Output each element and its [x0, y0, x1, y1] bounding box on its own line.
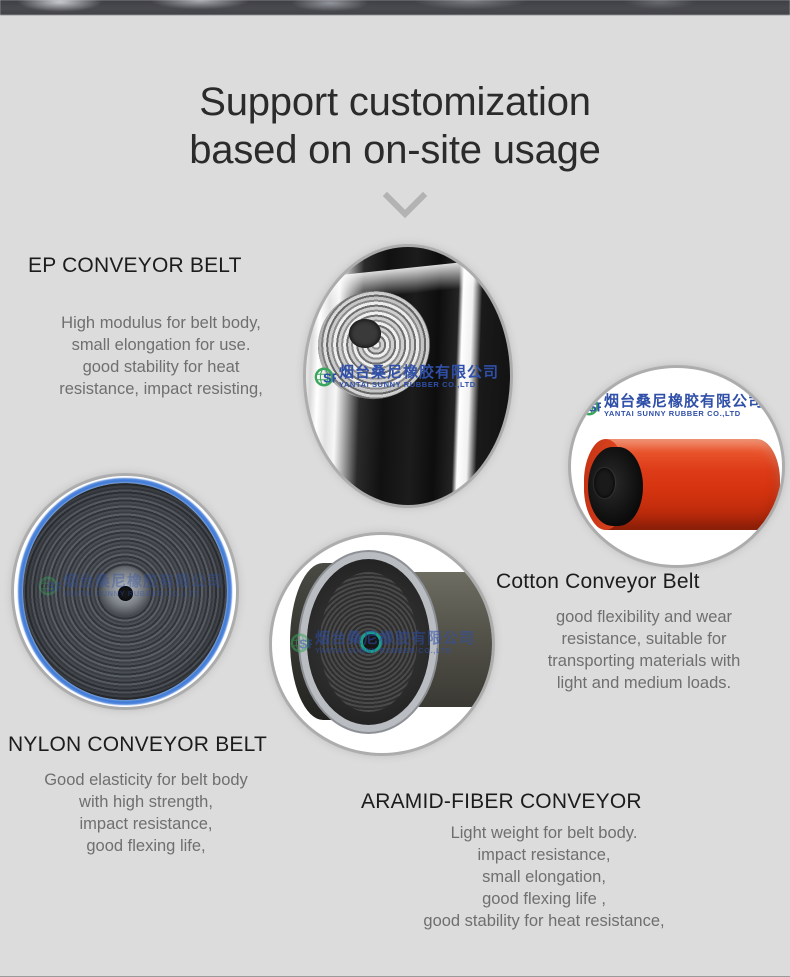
section-body-nylon: Good elasticity for belt body with high …: [4, 769, 288, 857]
section-title-aramid: ARAMID-FIBER CONVEYOR: [361, 790, 642, 814]
section-body-aramid: Light weight for belt body. impact resis…: [334, 822, 754, 932]
section-body-line: good stability for heat resistance,: [334, 910, 754, 932]
ep-conveyor-belt-photo: SR 烟台桑尼橡胶有限公司 YANTAI SUNNY RUBBER CO.,LT…: [306, 247, 510, 505]
chevron-down-icon: [383, 190, 427, 220]
headline-line-2: based on on-site usage: [0, 126, 790, 174]
aramid-fiber-conveyor-photo: SR 烟台桑尼橡胶有限公司 YANTAI SUNNY RUBBER CO.,LT…: [272, 535, 492, 753]
section-title-ep: EP CONVEYOR BELT: [28, 254, 242, 278]
nylon-conveyor-belt-photo: SR 烟台桑尼橡胶有限公司 YANTAI SUNNY RUBBER CO.,LT…: [14, 476, 236, 707]
page-title: Support customization based on on-site u…: [0, 78, 790, 174]
section-body-line: small elongation for use.: [8, 334, 314, 356]
section-body-line: Light weight for belt body.: [334, 822, 754, 844]
section-body-ep: High modulus for belt body, small elonga…: [8, 312, 314, 400]
section-body-line: good flexibility and wear: [500, 606, 788, 628]
section-body-line: good flexing life ,: [334, 888, 754, 910]
aramid-roll-center-ring: [360, 631, 382, 653]
section-body-line: High modulus for belt body,: [8, 312, 314, 334]
section-body-line: light and medium loads.: [500, 672, 788, 694]
section-body-line: impact resistance,: [334, 844, 754, 866]
headline-line-1: Support customization: [199, 80, 591, 124]
nylon-coil-core-hole: [118, 586, 132, 601]
cotton-conveyor-belt-photo: SR 烟台桑尼橡胶有限公司 YANTAI SUNNY RUBBER CO.,LT…: [571, 368, 782, 565]
product-feature-banner: Support customization based on on-site u…: [0, 0, 790, 977]
section-body-line: resistance, suitable for: [500, 628, 788, 650]
section-body-line: good flexing life,: [4, 835, 288, 857]
top-decorative-strip: [0, 0, 790, 15]
section-title-nylon: NYLON CONVEYOR BELT: [8, 733, 267, 757]
section-body-line: small elongation,: [334, 866, 754, 888]
section-body-cotton: good flexibility and wear resistance, su…: [500, 606, 788, 694]
section-body-line: impact resistance,: [4, 813, 288, 835]
section-body-line: Good elasticity for belt body: [4, 769, 288, 791]
section-body-line: with high strength,: [4, 791, 288, 813]
section-body-line: good stability for heat: [8, 356, 314, 378]
section-title-cotton: Cotton Conveyor Belt: [496, 570, 700, 594]
ep-roll-core: [349, 319, 382, 347]
section-body-line: resistance, impact resisting,: [8, 378, 314, 400]
section-body-line: transporting materials with: [500, 650, 788, 672]
